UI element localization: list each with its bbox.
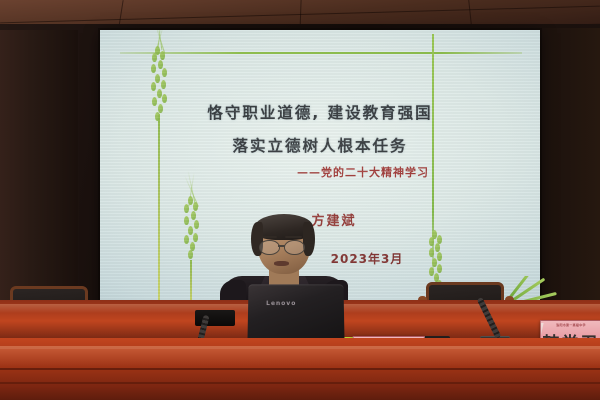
slide-title-line-1: 恪守职业道德, 建设教育强国	[100, 101, 540, 123]
conference-room-photo: 恪守职业道德, 建设教育强国 落实立德树人根本任务 ——党的二十大精神学习 方建…	[0, 0, 600, 400]
laptop-brand-label: Lenovo	[266, 300, 296, 307]
nameplate-right-subtitle: 洛阳市第一高级中学	[541, 323, 600, 327]
slide-subtitle: ——党的二十大精神学习	[100, 164, 540, 180]
slide-title-line-2: 落实立德树人根本任务	[100, 134, 540, 156]
eyeglasses-left-lens	[259, 240, 280, 255]
eyeglasses-right-lens	[284, 240, 305, 255]
front-desk-surface	[0, 338, 600, 400]
